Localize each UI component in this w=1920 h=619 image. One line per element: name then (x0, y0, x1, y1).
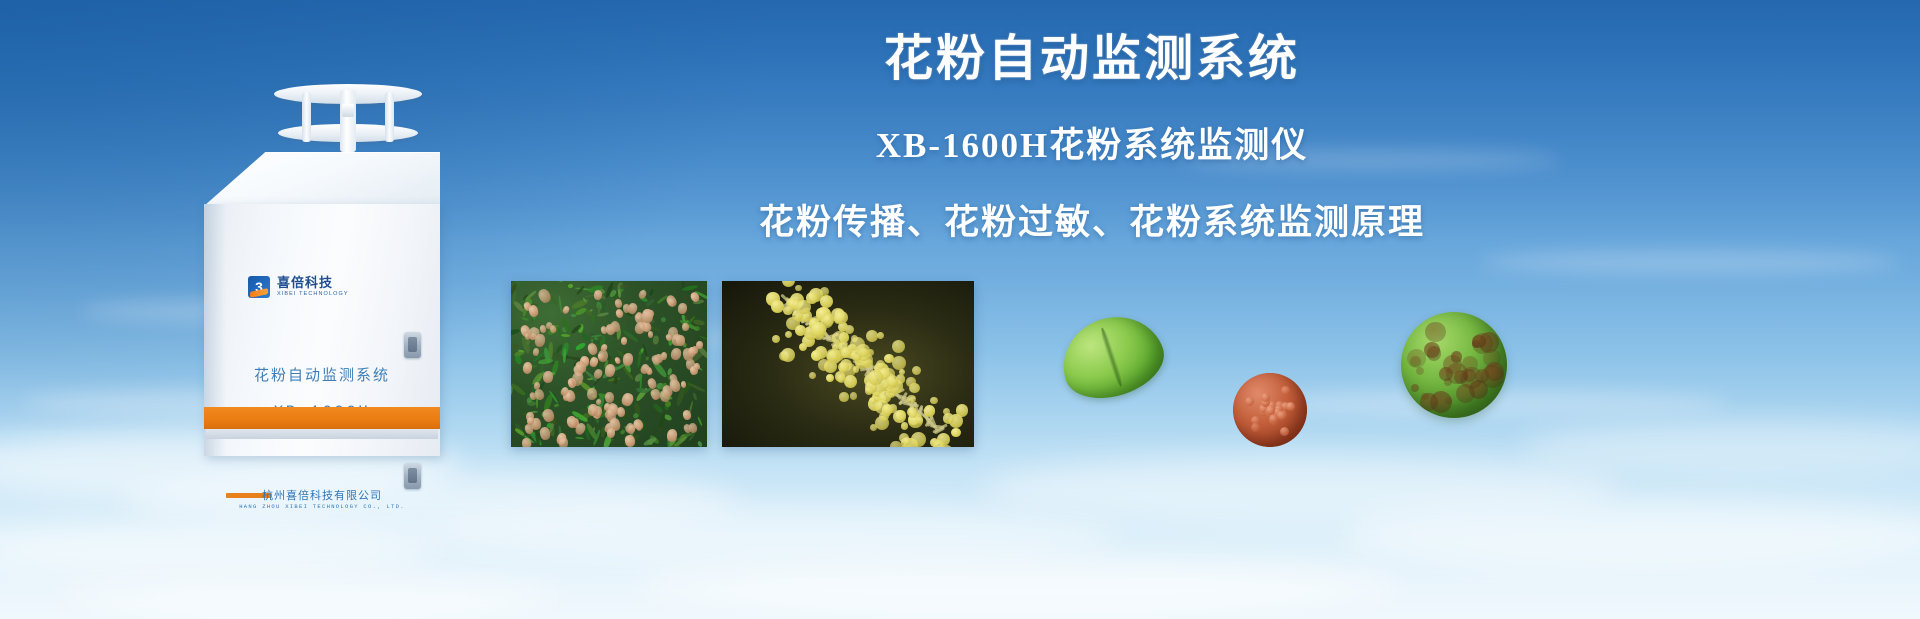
rain-shield-sensor-icon (274, 82, 422, 160)
brand-name-en: XIBEI TECHNOLOGY (277, 292, 349, 298)
sensor-nub (342, 104, 354, 117)
pollen-grain-spiky (1215, 355, 1325, 465)
photo-catkin (722, 281, 974, 447)
cabinet-company-cn: 杭州喜倍科技有限公司 (204, 487, 440, 503)
cloud-decor (420, 505, 1120, 565)
handle-slot (408, 468, 417, 483)
pollen-grain-oval (1051, 304, 1172, 410)
cloud-decor (0, 520, 440, 575)
pollen-monitor-cabinet: 3 喜倍科技 XIBEI TECHNOLOGY 花粉自动监测系统 XB-1600… (196, 82, 496, 442)
cloud-decor (640, 560, 1400, 615)
cabinet-foot (206, 429, 438, 439)
cloud-wisp (1480, 250, 1900, 274)
handle-slot (408, 337, 417, 352)
photo-cypress (511, 281, 707, 447)
cabinet-product-label: 花粉自动监测系统 (204, 364, 440, 385)
xibei-logo-icon: 3 (248, 276, 270, 298)
door-handle-upper[interactable] (404, 332, 421, 358)
brand-logo: 3 喜倍科技 XIBEI TECHNOLOGY (248, 276, 349, 298)
pollen-grain-round (1401, 312, 1507, 418)
cabinet-company-en: HANG ZHOU XIBEI TECHNOLOGY CO., LTD. (204, 503, 440, 510)
page-tagline: 花粉传播、花粉过敏、花粉系统监测原理 (592, 194, 1592, 245)
cloud-decor (60, 575, 560, 619)
brand-name-cn: 喜倍科技 (277, 276, 349, 289)
door-handle-lower[interactable] (404, 463, 421, 489)
sensor-leg-left (302, 92, 311, 142)
cloud-decor (1520, 420, 1920, 475)
pollen-furrow (1098, 326, 1124, 388)
cabinet-base-band (204, 407, 440, 429)
sensor-leg-right (385, 92, 394, 142)
cloud-decor (1340, 500, 1920, 570)
sensor-stem (340, 90, 356, 152)
page-subtitle: XB-1600H花粉系统监测仪 (592, 117, 1592, 168)
cabinet-top-face (204, 152, 440, 206)
headline-block: 花粉自动监测系统 XB-1600H花粉系统监测仪 花粉传播、花粉过敏、花粉系统监… (592, 30, 1592, 245)
page-title: 花粉自动监测系统 (592, 30, 1592, 89)
pollen-monitoring-banner: 花粉自动监测系统 XB-1600H花粉系统监测仪 花粉传播、花粉过敏、花粉系统监… (0, 0, 1920, 619)
